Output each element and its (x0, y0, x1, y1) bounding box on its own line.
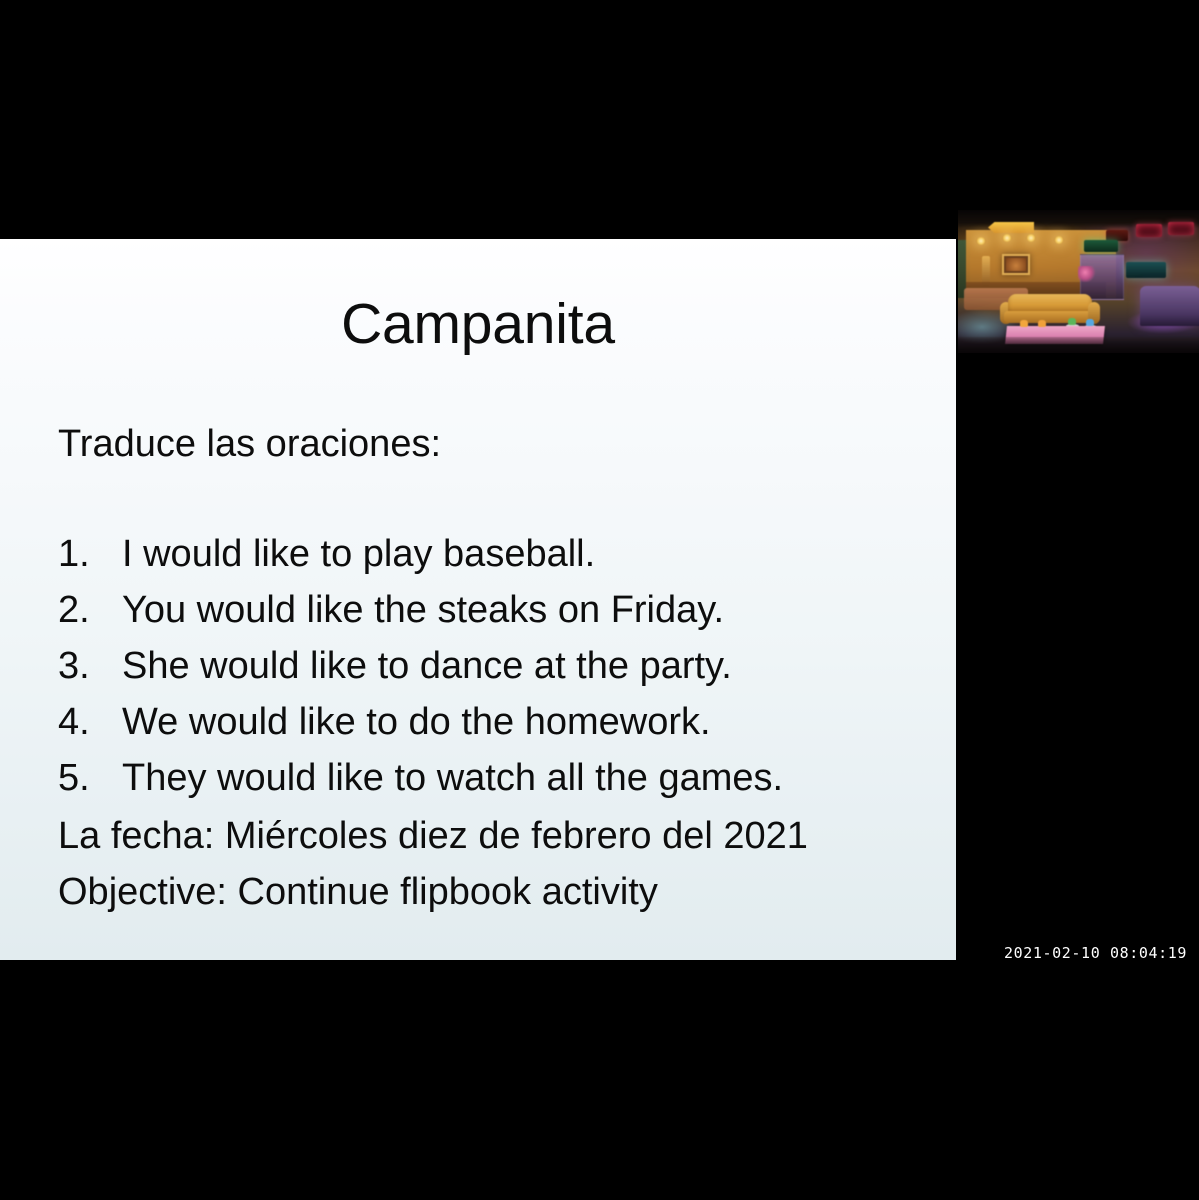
date-line: La fecha: Miércoles diez de febrero del … (58, 808, 938, 864)
screen-recording-canvas: Campanita Traduce las oraciones: 1. I wo… (0, 0, 1199, 1200)
webcam-video-thumbnail[interactable] (958, 210, 1199, 353)
list-item-text: She would like to dance at the party. (122, 638, 732, 694)
slide-body: Traduce las oraciones: 1. I would like t… (58, 424, 938, 920)
list-item: 4. We would like to do the homework. (58, 694, 938, 750)
couch-seat (1004, 311, 1096, 323)
list-item: 1. I would like to play baseball. (58, 526, 938, 582)
flower-vase (1078, 266, 1096, 282)
arrow-sign-icon (988, 222, 1034, 233)
recording-timestamp: 2021-02-10 08:04:19 (1004, 944, 1187, 962)
framed-picture (1002, 254, 1030, 275)
ceiling-lamp-icon (1002, 234, 1012, 242)
list-item: 5. They would like to watch all the game… (58, 750, 938, 806)
list-item-text: I would like to play baseball. (122, 526, 595, 582)
coffee-cup (1038, 320, 1046, 327)
orange-couch (1002, 294, 1098, 326)
ceiling-lamp-icon (976, 237, 986, 245)
coffee-cup (1020, 320, 1028, 327)
list-item-marker: 2. (58, 582, 122, 638)
list-item-text: They would like to watch all the games. (122, 750, 783, 806)
list-item-marker: 5. (58, 750, 122, 806)
list-item-marker: 4. (58, 694, 122, 750)
list-item: 2. You would like the steaks on Friday. (58, 582, 938, 638)
cafe-floor (958, 337, 1199, 353)
list-item: 3. She would like to dance at the party. (58, 638, 938, 694)
neon-sign (1126, 262, 1166, 278)
list-item-text: You would like the steaks on Friday. (122, 582, 724, 638)
presentation-slide: Campanita Traduce las oraciones: 1. I wo… (0, 239, 956, 960)
neon-sign (1168, 222, 1194, 235)
coffee-cup (1068, 318, 1076, 325)
slide-title: Campanita (0, 295, 956, 355)
virtual-background-image (958, 210, 1199, 353)
list-item-marker: 3. (58, 638, 122, 694)
list-item-marker: 1. (58, 526, 122, 582)
ceiling-lamp-icon (1054, 236, 1064, 244)
instruction-line: Traduce las oraciones: (58, 424, 938, 466)
purple-sofa (1140, 286, 1199, 326)
neon-sign (1136, 224, 1162, 237)
neon-sign (1084, 240, 1118, 252)
coffee-cup (1086, 319, 1094, 326)
slide-footer-lines: La fecha: Miércoles diez de febrero del … (58, 808, 938, 920)
list-item-text: We would like to do the homework. (122, 694, 711, 750)
objective-line: Objective: Continue flipbook activity (58, 864, 938, 920)
ceiling-lamp-icon (1026, 234, 1036, 242)
translation-exercise-list: 1. I would like to play baseball. 2. You… (58, 526, 938, 806)
